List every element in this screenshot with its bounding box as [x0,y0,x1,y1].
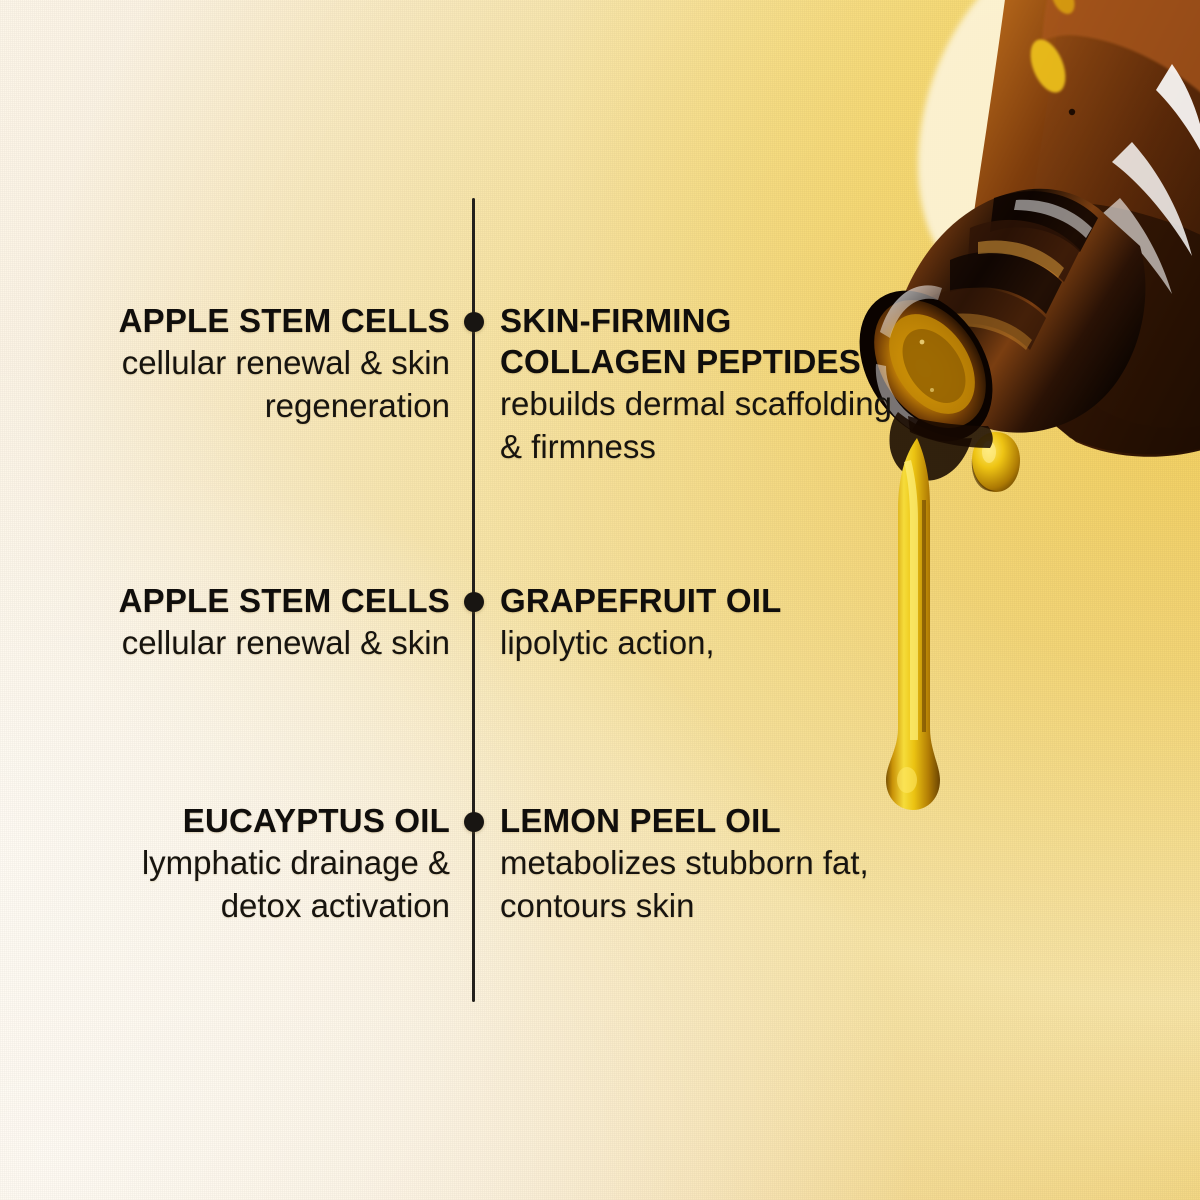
ingredient-description: rebuilds dermal scaffolding & firmness [500,382,900,468]
ingredient-item-collagen-peptides: SKIN-FIRMING COLLAGEN PEPTIDES rebuilds … [500,300,900,468]
ingredient-title: EUCAYPTUS OIL [60,800,450,841]
ingredient-item-apple-stem-cells-1: APPLE STEM CELLS cellular renewal & skin… [60,300,450,427]
infographic-canvas: APPLE STEM CELLS cellular renewal & skin… [0,0,1200,1200]
bullet-dot-2 [464,592,484,612]
ingredient-title: APPLE STEM CELLS [60,580,450,621]
ingredient-item-eucayptus-oil: EUCAYPTUS OIL lymphatic drainage & detox… [60,800,450,927]
ingredient-description: lymphatic drainage & detox activation [60,841,450,927]
ingredient-description: cellular renewal & skin [60,621,450,664]
ingredient-description: metabolizes stubborn fat, contours skin [500,841,900,927]
ingredient-description: cellular renewal & skin regeneration [60,341,450,427]
bullet-dot-3 [464,812,484,832]
ingredient-item-grapefruit-oil: GRAPEFRUIT OIL lipolytic action, [500,580,900,664]
ingredient-description: lipolytic action, [500,621,900,664]
ingredient-title: LEMON PEEL OIL [500,800,900,841]
ingredient-title: GRAPEFRUIT OIL [500,580,900,621]
ingredient-title: SKIN-FIRMING COLLAGEN PEPTIDES [500,300,900,382]
bullet-dot-1 [464,312,484,332]
ingredient-item-apple-stem-cells-2: APPLE STEM CELLS cellular renewal & skin [60,580,450,664]
ingredient-title: APPLE STEM CELLS [60,300,450,341]
ingredient-item-lemon-peel-oil: LEMON PEEL OIL metabolizes stubborn fat,… [500,800,900,927]
